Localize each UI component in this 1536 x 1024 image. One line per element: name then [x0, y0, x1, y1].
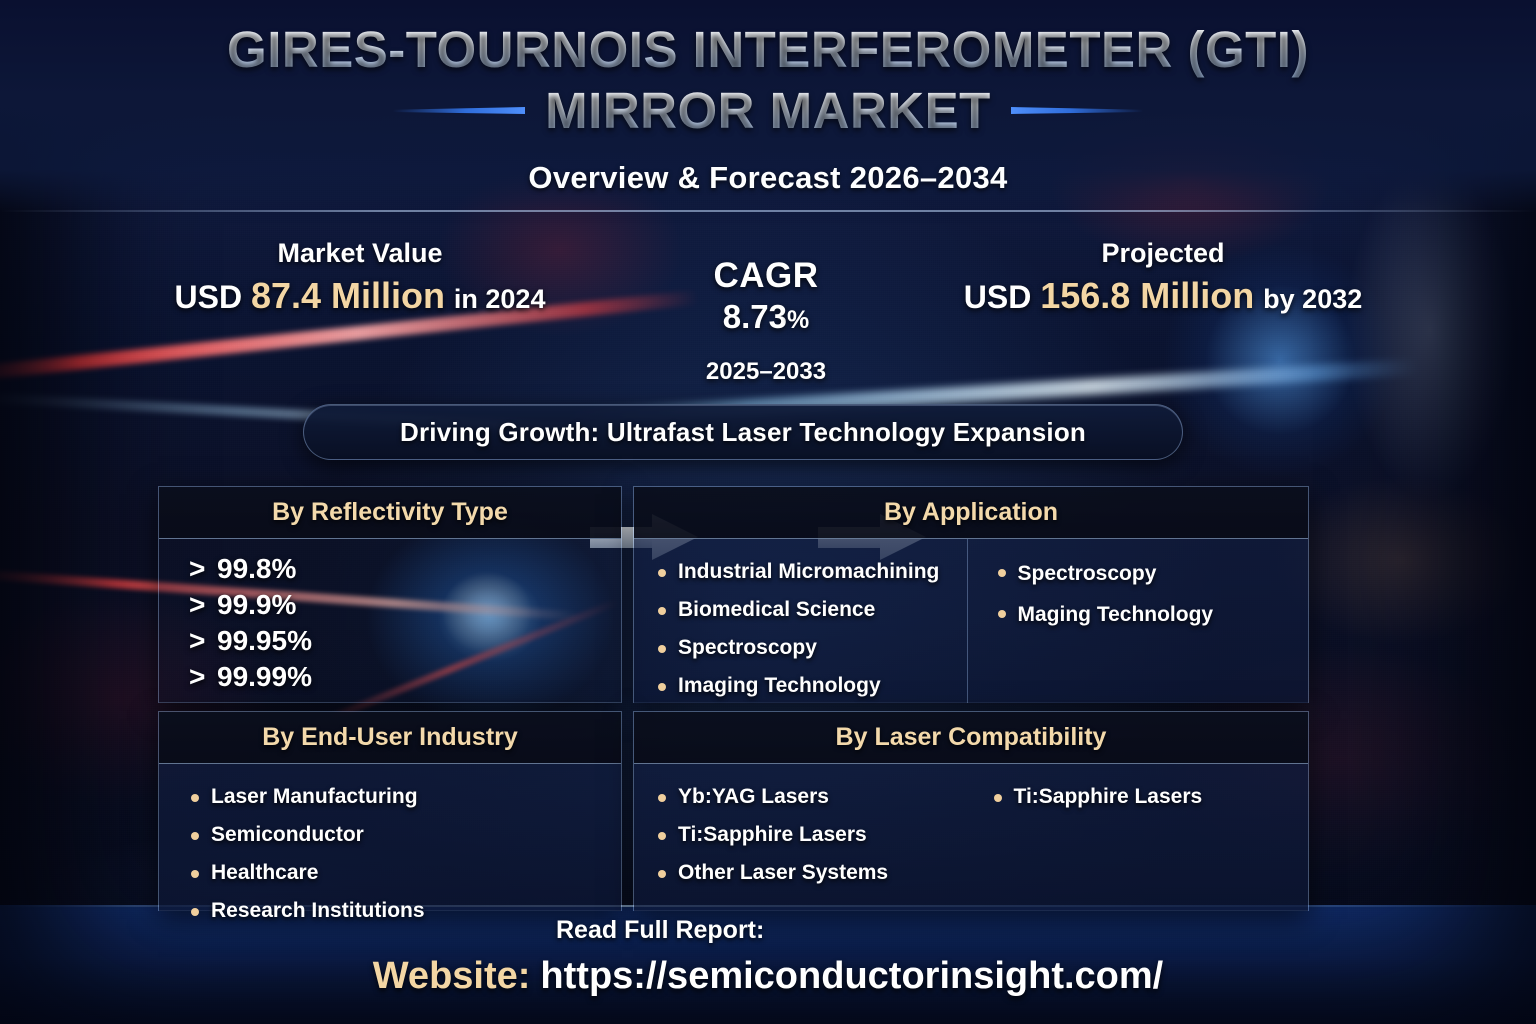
- read-full-report-label: Read Full Report:: [556, 916, 764, 945]
- laser-list-right: Ti:Sapphire Lasers: [992, 778, 1309, 816]
- page-subtitle: Overview & Forecast 2026–2034: [0, 160, 1536, 196]
- stat-cagr-value: 8.73: [723, 298, 787, 335]
- list-item: >99.8%: [189, 551, 621, 587]
- stats-row: Market Value USD 87.4 Million in 2024 CA…: [0, 232, 1536, 372]
- stat-cagr-period: 2025–2033: [638, 358, 894, 386]
- reflectivity-value: 99.9%: [217, 589, 296, 620]
- stat-market-value-suffix: in 2024: [454, 284, 546, 314]
- stat-market-value: Market Value USD 87.4 Million in 2024: [140, 238, 580, 317]
- application-column-right: Spectroscopy Maging Technology: [967, 539, 1309, 703]
- stat-cagr-value-row: 8.73%: [638, 298, 894, 336]
- website-url[interactable]: https://semiconductorinsight.com/: [540, 955, 1163, 997]
- title-line-1: GIRES-TOURNOIS INTERFEROMETER (GTI): [0, 20, 1536, 79]
- card-end-user-industry: By End-User Industry Laser Manufacturing…: [158, 711, 622, 911]
- card-laser-header: By Laser Compatibility: [634, 712, 1308, 764]
- card-application-header: By Application: [634, 487, 1308, 539]
- stat-projected-amount: 156.8 Million: [1040, 275, 1254, 316]
- laser-column-left: Yb:YAG Lasers Ti:Sapphire Lasers Other L…: [634, 764, 964, 911]
- website-label: Website:: [373, 955, 531, 997]
- card-application-body: Industrial Micromachining Biomedical Sci…: [634, 539, 1308, 703]
- card-laser-compatibility: By Laser Compatibility Yb:YAG Lasers Ti:…: [633, 711, 1309, 911]
- card-application: By Application Industrial Micromachining…: [633, 486, 1309, 703]
- title-line-2-row: MIRROR MARKET: [0, 81, 1536, 140]
- application-list-right: Spectroscopy Maging Technology: [996, 553, 1309, 635]
- list-item: Spectroscopy: [996, 553, 1309, 594]
- infographic-canvas: GIRES-TOURNOIS INTERFEROMETER (GTI) MIRR…: [0, 0, 1536, 1024]
- laser-list-left: Yb:YAG Lasers Ti:Sapphire Lasers Other L…: [656, 778, 964, 892]
- stat-projected-currency: USD: [964, 279, 1032, 315]
- stat-cagr: CAGR 8.73% 2025–2033: [638, 256, 894, 386]
- list-item: Imaging Technology: [656, 667, 967, 705]
- stat-cagr-label: CAGR: [638, 256, 894, 296]
- card-application-title: By Application: [884, 498, 1058, 527]
- driving-growth-banner: Driving Growth: Ultrafast Laser Technolo…: [303, 404, 1183, 460]
- card-end-user-header: By End-User Industry: [159, 712, 621, 764]
- card-end-user-body: Laser Manufacturing Semiconductor Health…: [159, 764, 621, 911]
- list-item: Other Laser Systems: [656, 854, 964, 892]
- list-item: Ti:Sapphire Lasers: [992, 778, 1309, 816]
- list-item: >99.95%: [189, 623, 621, 659]
- stat-market-value-amount: 87.4 Million: [251, 275, 445, 316]
- laser-column-right: Ti:Sapphire Lasers: [964, 764, 1309, 911]
- greater-than-icon: >: [189, 659, 217, 695]
- greater-than-icon: >: [189, 587, 217, 623]
- list-item: Industrial Micromachining: [656, 553, 967, 591]
- list-item: Spectroscopy: [656, 629, 967, 667]
- list-item: >99.99%: [189, 659, 621, 695]
- greater-than-icon: >: [189, 551, 217, 587]
- stat-projected: Projected USD 156.8 Million by 2032: [928, 238, 1398, 317]
- stat-cagr-unit: %: [787, 306, 809, 334]
- accent-line-left-icon: [393, 107, 525, 114]
- greater-than-icon: >: [189, 623, 217, 659]
- list-item: Maging Technology: [996, 594, 1309, 635]
- reflectivity-list: >99.8% >99.9% >99.95% >99.99%: [189, 551, 621, 695]
- driving-growth-text: Driving Growth: Ultrafast Laser Technolo…: [400, 417, 1086, 448]
- reflectivity-value: 99.95%: [217, 625, 312, 656]
- list-item: Biomedical Science: [656, 591, 967, 629]
- header-panel: GIRES-TOURNOIS INTERFEROMETER (GTI) MIRR…: [0, 0, 1536, 212]
- list-item: Ti:Sapphire Lasers: [656, 816, 964, 854]
- card-laser-body: Yb:YAG Lasers Ti:Sapphire Lasers Other L…: [634, 764, 1308, 911]
- stat-projected-suffix: by 2032: [1263, 284, 1362, 314]
- stat-market-value-value: USD 87.4 Million in 2024: [140, 275, 580, 317]
- reflectivity-value: 99.99%: [217, 661, 312, 692]
- list-item: Yb:YAG Lasers: [656, 778, 964, 816]
- website-row: Website:https://semiconductorinsight.com…: [0, 955, 1536, 998]
- accent-line-right-icon: [1011, 107, 1143, 114]
- title-line-2: MIRROR MARKET: [545, 81, 991, 140]
- stat-projected-value: USD 156.8 Million by 2032: [928, 275, 1398, 317]
- card-reflectivity-type: By Reflectivity Type >99.8% >99.9% >99.9…: [158, 486, 622, 703]
- stat-projected-label: Projected: [928, 238, 1398, 269]
- stat-market-value-currency: USD: [175, 279, 243, 315]
- application-list-left: Industrial Micromachining Biomedical Sci…: [656, 553, 967, 705]
- page-title: GIRES-TOURNOIS INTERFEROMETER (GTI) MIRR…: [0, 20, 1536, 140]
- reflectivity-value: 99.8%: [217, 553, 296, 584]
- card-end-user-title: By End-User Industry: [262, 723, 518, 752]
- card-reflectivity-body: >99.8% >99.9% >99.95% >99.99%: [159, 539, 621, 703]
- list-item: Healthcare: [189, 854, 621, 892]
- list-item: Laser Manufacturing: [189, 778, 621, 816]
- stat-market-value-label: Market Value: [140, 238, 580, 269]
- card-reflectivity-title: By Reflectivity Type: [272, 498, 508, 527]
- end-user-list: Laser Manufacturing Semiconductor Health…: [189, 778, 621, 930]
- card-laser-title: By Laser Compatibility: [836, 723, 1107, 752]
- card-reflectivity-header: By Reflectivity Type: [159, 487, 621, 539]
- list-item: Semiconductor: [189, 816, 621, 854]
- application-column-left: Industrial Micromachining Biomedical Sci…: [634, 539, 967, 703]
- list-item: >99.9%: [189, 587, 621, 623]
